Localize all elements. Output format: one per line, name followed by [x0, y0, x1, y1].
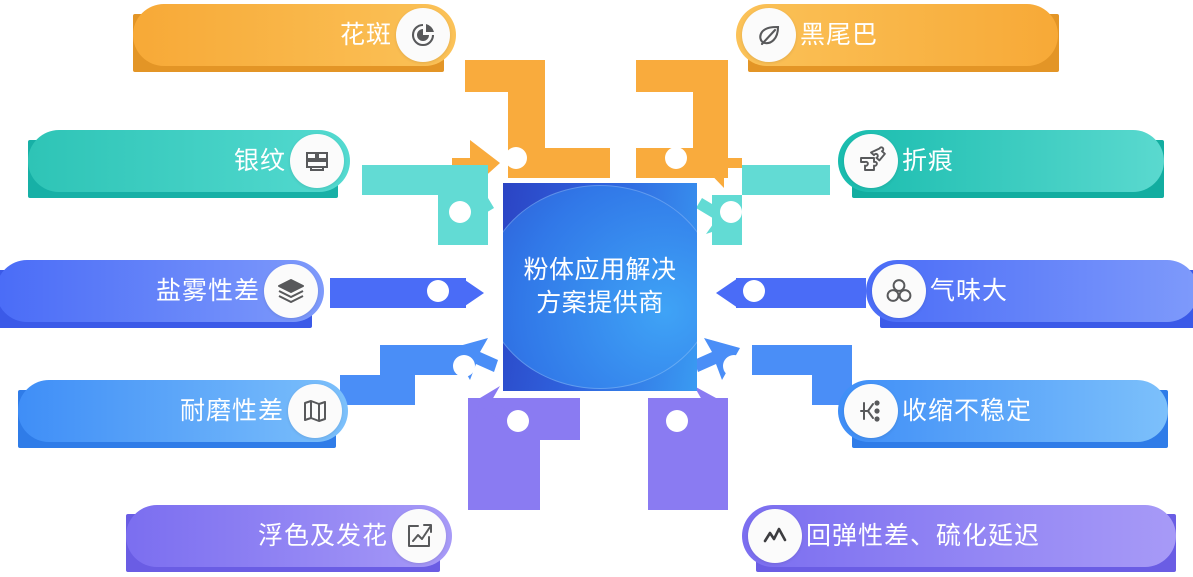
- connector-yinwen: [362, 165, 494, 245]
- node-yanwuxingcha[interactable]: 盐雾性差: [0, 260, 324, 322]
- node-yinwen-label: 银纹: [234, 149, 286, 174]
- node-heiweiba[interactable]: 黑尾巴: [736, 4, 1058, 66]
- connector-qiweida: [716, 278, 866, 308]
- connector-heiweiba: [636, 60, 742, 188]
- node-yanwuxingcha-label: 盐雾性差: [156, 279, 260, 304]
- map-icon: [288, 384, 342, 438]
- connector-shousuobuwending: [694, 338, 852, 405]
- recycle-icon: [872, 264, 926, 318]
- pie-chart-icon: [396, 8, 450, 62]
- node-yinwen[interactable]: 银纹: [28, 130, 350, 192]
- node-zhehen-label: 折痕: [902, 149, 954, 174]
- center-label: 粉体应用解决 方案提供商: [503, 183, 697, 391]
- brick-wall-icon: [290, 134, 344, 188]
- center-node: 粉体应用解决 方案提供商: [503, 183, 697, 391]
- connector-huitanxingcha: [648, 386, 728, 510]
- node-huaban-label: 花斑: [340, 23, 392, 48]
- node-zhehen[interactable]: 折痕: [838, 130, 1164, 192]
- node-naimoxingcha-label: 耐磨性差: [180, 399, 284, 424]
- node-qiweida[interactable]: 气味大: [866, 260, 1193, 322]
- connector-naimoxingcha: [340, 338, 498, 405]
- puzzle-piece-icon: [844, 134, 898, 188]
- node-fusejifahua-label: 浮色及发花: [258, 524, 388, 549]
- connector-yanwuxingcha: [330, 278, 484, 308]
- sitemap-icon: [844, 384, 898, 438]
- leaf-icon: [742, 8, 796, 62]
- line-chart-icon: [748, 509, 802, 563]
- node-huaban[interactable]: 花斑: [133, 4, 456, 66]
- layers-icon: [264, 264, 318, 318]
- node-huitanxingcha-body[interactable]: 回弹性差、硫化延迟: [742, 505, 1176, 567]
- trending-up-box-icon: [392, 509, 446, 563]
- node-huitanxingcha-label: 回弹性差、硫化延迟: [806, 524, 1040, 549]
- connector-fusejifahua: [468, 386, 580, 510]
- node-heiweiba-label: 黑尾巴: [800, 23, 878, 48]
- node-shousuobuwending-label: 收缩不稳定: [902, 399, 1032, 424]
- node-huitanxingcha[interactable]: 回弹性差、硫化延迟: [742, 505, 1176, 567]
- node-naimoxingcha[interactable]: 耐磨性差: [18, 380, 348, 442]
- center-label-line2: 方案提供商: [536, 287, 664, 320]
- center-label-line1: 粉体应用解决: [523, 254, 676, 287]
- node-qiweida-label: 气味大: [930, 279, 1008, 304]
- infographic-diagram: 粉体应用解决 方案提供商 花斑 黑尾巴: [0, 0, 1193, 577]
- node-fusejifahua[interactable]: 浮色及发花: [126, 505, 452, 567]
- node-shousuobuwending[interactable]: 收缩不稳定: [838, 380, 1168, 442]
